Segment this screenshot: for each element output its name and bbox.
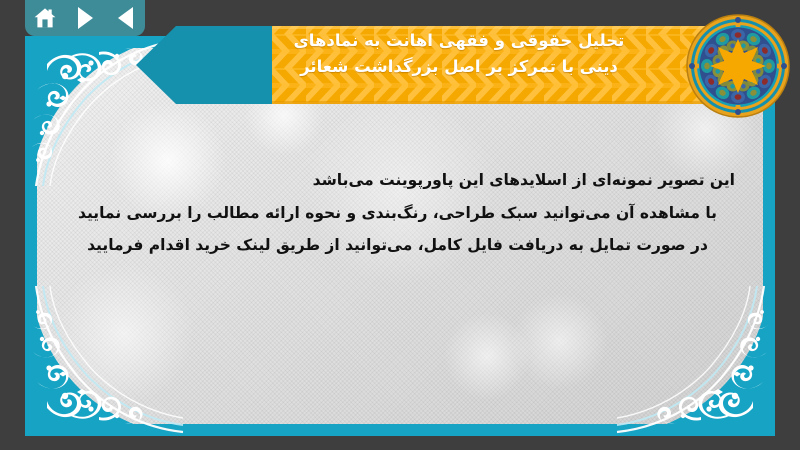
body-line-2: با مشاهده آن می‌توانید سبک طراحی، رنگ‌بن… [60, 197, 735, 230]
home-icon [33, 6, 57, 30]
next-slide-button[interactable] [72, 5, 98, 31]
previous-slide-button[interactable] [112, 5, 138, 31]
body-line-1: این تصویر نمونه‌ای از اسلایدهای این پاور… [60, 164, 735, 197]
slide-navigation-bar[interactable] [25, 0, 145, 36]
slide-frame: این تصویر نمونه‌ای از اسلایدهای این پاور… [25, 36, 775, 436]
triangle-right-icon [78, 7, 93, 29]
home-button[interactable] [32, 5, 58, 31]
body-line-3: در صورت تمایل به دریافت فایل کامل، می‌تو… [60, 229, 735, 262]
islamic-medallion-icon [686, 14, 790, 118]
triangle-left-icon [118, 7, 133, 29]
slide-body-text: این تصویر نمونه‌ای از اسلایدهای این پاور… [60, 164, 735, 262]
slide-viewer: این تصویر نمونه‌ای از اسلایدهای این پاور… [0, 0, 800, 450]
